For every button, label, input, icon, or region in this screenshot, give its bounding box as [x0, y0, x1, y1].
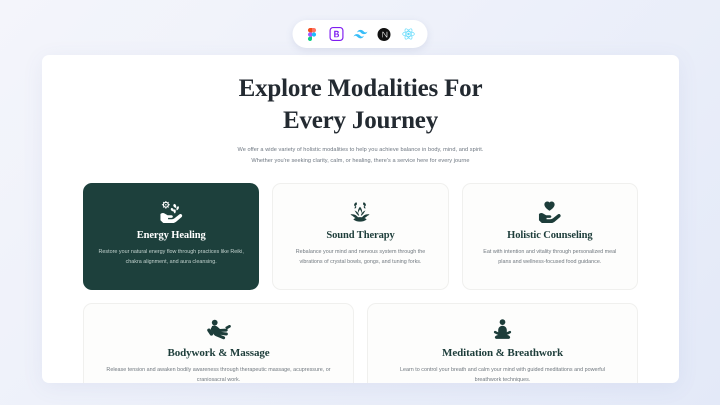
- content-panel: Explore Modalities For Every Journey We …: [42, 55, 679, 383]
- modality-card-sound-therapy[interactable]: Sound Therapy Rebalance your mind and ne…: [272, 183, 448, 290]
- tailwind-icon[interactable]: [350, 24, 371, 45]
- card-description: Release tension and awaken bodily awaren…: [106, 365, 331, 383]
- hand-holding-heart-icon: [537, 199, 562, 225]
- modality-card-grid: Energy Healing Restore your natural ener…: [72, 183, 649, 383]
- page-subtitle-line-1: We offer a wide variety of holistic moda…: [72, 145, 649, 156]
- card-description: Eat with intention and vitality through …: [477, 247, 623, 267]
- figma-icon[interactable]: [302, 24, 323, 45]
- card-title: Sound Therapy: [326, 230, 394, 241]
- card-title: Energy Healing: [137, 230, 206, 241]
- hand-holding-flower-sparkle-icon: [159, 199, 183, 225]
- card-description: Rebalance your mind and nervous system t…: [287, 247, 433, 267]
- card-description: Learn to control your breath and calm yo…: [390, 365, 615, 383]
- card-description: Restore your natural energy flow through…: [98, 247, 244, 267]
- react-icon[interactable]: [398, 24, 419, 45]
- meditating-person-icon: [491, 317, 514, 343]
- page-title-line-2: Every Journey: [72, 105, 649, 137]
- modality-card-meditation-breathwork[interactable]: Meditation & Breathwork Learn to control…: [367, 303, 638, 383]
- framework-toolbar: [293, 20, 428, 48]
- card-row-top: Energy Healing Restore your natural ener…: [83, 183, 638, 290]
- lotus-sound-waves-icon: [348, 199, 372, 225]
- modality-card-bodywork-massage[interactable]: Bodywork & Massage Release tension and a…: [83, 303, 354, 383]
- modality-card-energy-healing[interactable]: Energy Healing Restore your natural ener…: [83, 183, 259, 290]
- card-row-bottom: Bodywork & Massage Release tension and a…: [83, 303, 638, 383]
- bootstrap-icon[interactable]: [326, 24, 347, 45]
- massage-hands-icon: [206, 317, 232, 343]
- card-title: Meditation & Breathwork: [442, 347, 563, 359]
- page-title-line-1: Explore Modalities For: [72, 73, 649, 105]
- modality-card-holistic-counseling[interactable]: Holistic Counseling Eat with intention a…: [462, 183, 638, 290]
- nextjs-icon[interactable]: [374, 24, 395, 45]
- card-title: Bodywork & Massage: [167, 347, 269, 359]
- page-title: Explore Modalities For Every Journey: [72, 73, 649, 136]
- page-subtitle-line-2: Whether you're seeking clarity, calm, or…: [72, 156, 649, 167]
- page-subtitle: We offer a wide variety of holistic moda…: [72, 145, 649, 167]
- card-title: Holistic Counseling: [507, 230, 592, 241]
